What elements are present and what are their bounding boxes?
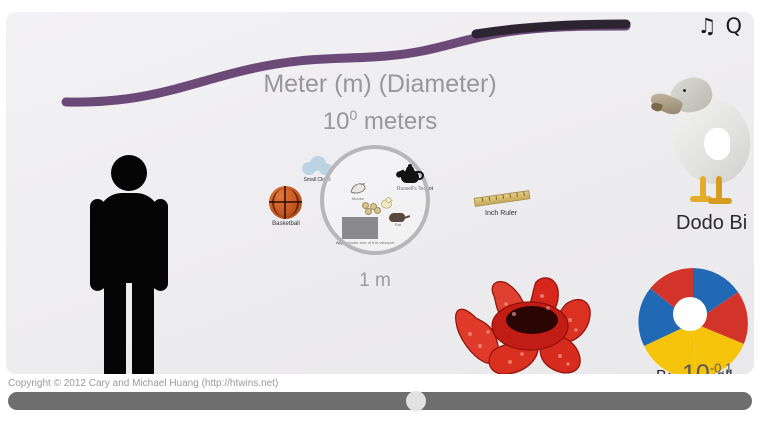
human-leg-gap <box>126 283 132 345</box>
worm-icon <box>6 12 754 132</box>
ruler-tick <box>503 195 504 199</box>
teapot-knob <box>408 164 412 168</box>
russells-teapot-object[interactable] <box>396 164 424 186</box>
duckling-object[interactable] <box>380 196 393 209</box>
quality-icon[interactable]: Q <box>725 16 742 37</box>
human-figure[interactable] <box>84 155 174 374</box>
rafflesia-flower-object[interactable] <box>436 274 616 374</box>
viewport-size-rect <box>342 217 378 239</box>
mouse-object[interactable] <box>349 181 367 195</box>
scale-stage[interactable]: ♫ Q Meter (m) (Diameter) 100 meters Huma… <box>6 12 754 374</box>
rat-body <box>389 213 405 222</box>
circle-size-label: 1 m <box>320 270 430 292</box>
ruler-tick <box>523 192 524 196</box>
zoom-slider-handle[interactable] <box>406 391 426 411</box>
zoom-slider[interactable] <box>8 392 752 410</box>
edge-exp-base: 10 <box>682 360 710 374</box>
dodo-bird-label: Dodo Bi <box>676 212 754 235</box>
ruler-tick <box>509 194 510 198</box>
human-leg-right <box>132 281 154 374</box>
icon-tray: ♫ Q <box>698 16 742 37</box>
worm-graphic <box>6 12 754 132</box>
scale-of-universe-app: The Scale of the Universe 2 2012 March 1… <box>0 0 760 433</box>
beach-ball-object[interactable] <box>638 268 748 374</box>
rat-object[interactable] <box>387 211 409 223</box>
bottom-padding <box>0 412 760 433</box>
human-head <box>111 155 147 191</box>
edge-scale-exponent: 10-0.1 <box>682 360 732 374</box>
beach-ball-icon <box>638 268 748 374</box>
dodo-wing <box>704 128 730 160</box>
rafflesia-icon <box>436 274 616 374</box>
inch-ruler-object[interactable] <box>474 190 531 207</box>
duckling-icon <box>380 196 393 209</box>
inch-ruler-label: Inch Ruler <box>470 210 532 217</box>
mouse-icon <box>349 181 367 195</box>
copyright-text: Copyright © 2012 Cary and Michael Huang … <box>8 378 278 389</box>
dodo-leg-right <box>716 176 722 200</box>
title-strip: The Scale of the Universe 2 2012 March 1… <box>0 0 760 14</box>
ruler-tick <box>496 196 497 200</box>
human-torso <box>98 193 160 289</box>
basketball-label: Basketball <box>260 221 312 227</box>
dodo-bird-object[interactable] <box>650 62 754 210</box>
dodo-eye <box>683 89 686 92</box>
human-leg-left <box>104 281 126 374</box>
basketball-object[interactable] <box>269 186 302 219</box>
music-note-icon[interactable]: ♫ <box>698 16 717 37</box>
ruler-tick <box>516 193 517 197</box>
dodo-foot-right <box>708 198 732 204</box>
edge-exp-power: -0.1 <box>710 361 732 374</box>
coin <box>365 208 372 215</box>
page-title: The Scale of the Universe 2 <box>38 0 663 2</box>
basketball-seam-horizontal <box>269 201 302 203</box>
teapot-handle <box>416 171 424 180</box>
ruler-tick <box>482 198 483 202</box>
ruler-tick <box>489 197 490 201</box>
